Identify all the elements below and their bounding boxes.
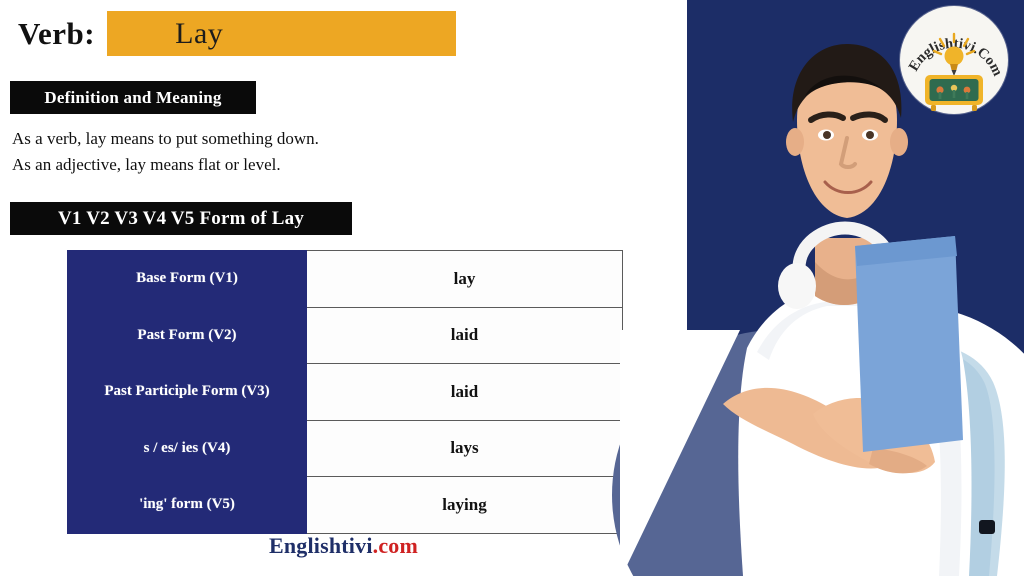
form-label-v4: s / es/ ies (V4): [68, 420, 307, 477]
lightbulb-icon: [945, 47, 964, 77]
englishtivi-logo-badge[interactable]: Englishtivi.Com: [900, 6, 1008, 114]
logo-artwork: Englishtivi.Com: [900, 6, 1008, 114]
form-value-v5: laying: [307, 477, 623, 534]
form-value-v2: laid: [307, 307, 623, 364]
form-value-v4: lays: [307, 420, 623, 477]
table-row: Base Form (V1) lay: [68, 251, 623, 308]
definition-line-1: As a verb, lay means to put something do…: [12, 126, 482, 152]
table-row: 'ing' form (V5) laying: [68, 477, 623, 534]
table-row: Past Participle Form (V3) laid: [68, 364, 623, 421]
form-label-v5: 'ing' form (V5): [68, 477, 307, 534]
footer-brand-name: Englishtivi: [269, 533, 373, 558]
footer-brand-tld: .com: [373, 533, 418, 558]
form-value-v3: laid: [307, 364, 623, 421]
verb-header-row: Verb: Lay: [18, 11, 456, 56]
forms-heading-tag: V1 V2 V3 V4 V5 Form of Lay: [10, 202, 352, 235]
definition-line-2: As an adjective, lay means flat or level…: [12, 152, 482, 178]
definition-text-block: As a verb, lay means to put something do…: [12, 126, 482, 178]
verb-forms-table: Base Form (V1) lay Past Form (V2) laid P…: [67, 250, 623, 534]
verb-highlight-chip: Lay: [107, 11, 456, 56]
form-value-v1: lay: [307, 251, 623, 308]
verb-label: Verb:: [18, 16, 95, 52]
slide-canvas: Englishtivi.Com: [0, 0, 1024, 576]
form-label-v3: Past Participle Form (V3): [68, 364, 307, 421]
form-label-v1: Base Form (V1): [68, 251, 307, 308]
tv-chalkboard-icon: [925, 75, 983, 111]
table-row: Past Form (V2) laid: [68, 307, 623, 364]
verb-word: Lay: [175, 17, 223, 51]
table-row: s / es/ ies (V4) lays: [68, 420, 623, 477]
footer-brand: Englishtivi.com: [0, 533, 687, 559]
form-label-v2: Past Form (V2): [68, 307, 307, 364]
definition-heading-tag: Definition and Meaning: [10, 81, 256, 114]
